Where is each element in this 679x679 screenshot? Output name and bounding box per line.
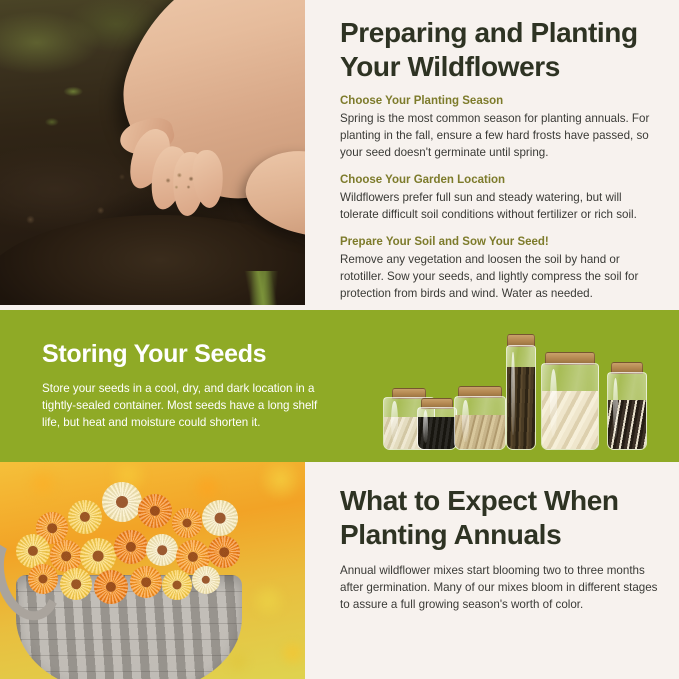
flower bbox=[94, 570, 128, 604]
jar-3 bbox=[454, 386, 506, 450]
planting-body-season: Spring is the most common season for pla… bbox=[340, 110, 662, 161]
storing-heading: Storing Your Seeds bbox=[42, 340, 332, 370]
flower bbox=[130, 566, 162, 598]
planting-subheading-soil: Prepare Your Soil and Sow Your Seed! bbox=[340, 235, 662, 250]
image-glass-jars-of-seeds bbox=[381, 328, 671, 456]
jar-3-glass bbox=[454, 396, 506, 450]
flower bbox=[16, 534, 50, 568]
section-what-to-expect: What to Expect When Planting Annuals Ann… bbox=[0, 462, 679, 679]
image-basket-of-orange-calendula-flowers bbox=[0, 462, 305, 679]
planting-subheading-season: Choose Your Planting Season bbox=[340, 94, 662, 109]
flower bbox=[138, 494, 172, 528]
image-hands-planting-seeds-in-soil bbox=[0, 0, 305, 305]
flower bbox=[208, 536, 240, 568]
jar-6 bbox=[607, 362, 647, 450]
flower bbox=[162, 570, 192, 600]
jar-5-glass bbox=[541, 363, 599, 450]
flower bbox=[68, 500, 102, 534]
infographic-page: Preparing and Planting Your Wildflowers … bbox=[0, 0, 679, 679]
flower bbox=[202, 500, 238, 536]
planting-block-location: Choose Your Garden Location Wildflowers … bbox=[340, 173, 662, 223]
flower-bouquet bbox=[6, 482, 256, 598]
jar-1-shine bbox=[391, 401, 398, 442]
planting-subheading-location: Choose Your Garden Location bbox=[340, 173, 662, 188]
grass-blades bbox=[196, 271, 305, 305]
jar-4-glass bbox=[506, 345, 536, 450]
planting-text-column: Preparing and Planting Your Wildflowers … bbox=[340, 16, 662, 302]
flower bbox=[60, 568, 92, 600]
planting-heading: Preparing and Planting Your Wildflowers bbox=[340, 16, 662, 84]
planting-body-soil: Remove any vegetation and loosen the soi… bbox=[340, 251, 662, 302]
section-preparing-and-planting: Preparing and Planting Your Wildflowers … bbox=[0, 0, 679, 310]
jar-4-shine bbox=[511, 352, 515, 434]
storing-text-column: Storing Your Seeds Store your seeds in a… bbox=[42, 340, 332, 432]
expect-body: Annual wildflower mixes start blooming t… bbox=[340, 562, 662, 613]
flower bbox=[172, 508, 202, 538]
planting-block-season: Choose Your Planting Season Spring is th… bbox=[340, 94, 662, 161]
planting-body-location: Wildflowers prefer full sun and steady w… bbox=[340, 189, 662, 223]
jar-3-shine bbox=[462, 400, 469, 442]
jar-6-glass bbox=[607, 372, 647, 450]
flower bbox=[28, 564, 58, 594]
jar-2 bbox=[417, 398, 457, 450]
flower bbox=[114, 530, 148, 564]
storing-body: Store your seeds in a cool, dry, and dar… bbox=[42, 380, 332, 432]
expect-heading: What to Expect When Planting Annuals bbox=[340, 484, 662, 552]
flower bbox=[192, 566, 220, 594]
jar-2-glass bbox=[417, 407, 457, 450]
jar-5-shine bbox=[550, 369, 557, 437]
flower bbox=[80, 538, 116, 574]
flower bbox=[102, 482, 142, 522]
section-storing-your-seeds: Storing Your Seeds Store your seeds in a… bbox=[0, 310, 679, 462]
expect-text-column: What to Expect When Planting Annuals Ann… bbox=[340, 484, 662, 613]
jar-5 bbox=[541, 352, 599, 450]
flower bbox=[146, 534, 178, 566]
jar-4 bbox=[506, 334, 536, 450]
planting-block-soil: Prepare Your Soil and Sow Your Seed! Rem… bbox=[340, 235, 662, 302]
